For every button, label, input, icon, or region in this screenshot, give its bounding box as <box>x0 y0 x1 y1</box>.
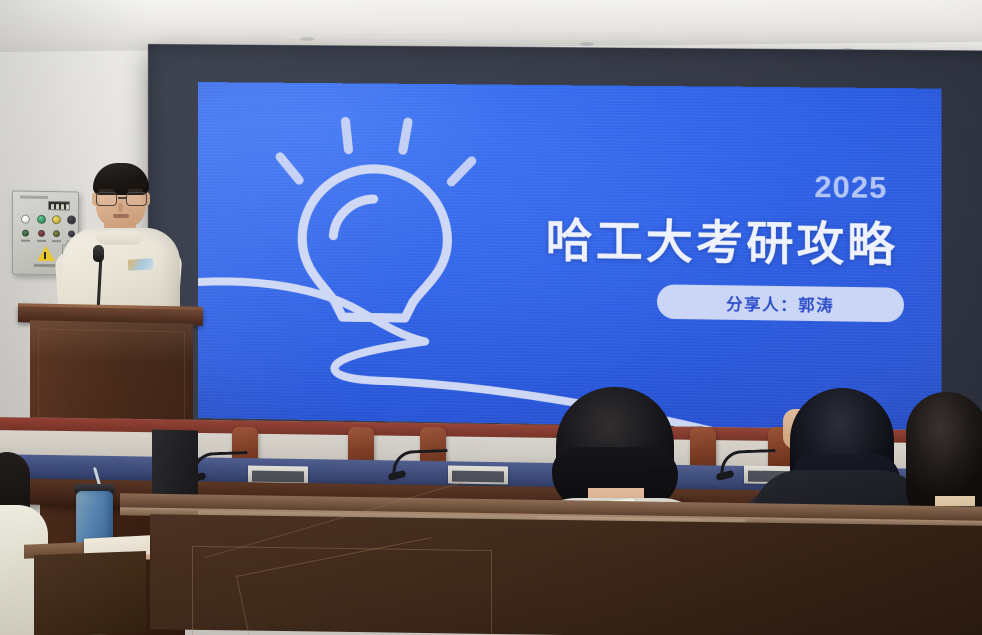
microphone-icon <box>93 245 104 262</box>
presentation-slide[interactable]: 2025 哈工大考研攻略 分享人：郭涛 <box>198 82 941 431</box>
indicator-lamp-white <box>21 215 30 224</box>
bulb-highlight-arc <box>333 199 373 237</box>
glasses-bridge <box>118 197 126 199</box>
panel-caption <box>34 264 58 267</box>
panel-label <box>20 196 48 199</box>
glasses-lens-left <box>96 192 117 206</box>
presenter-badge: 分享人：郭涛 <box>657 284 904 322</box>
panel-button-2[interactable] <box>38 230 45 237</box>
indicator-lamp-green <box>37 215 46 224</box>
warning-bolt-icon <box>44 252 46 259</box>
panel-button-3[interactable] <box>53 230 60 237</box>
panel-button-label <box>52 240 61 242</box>
lecture-hall-scene: 2025 哈工大考研攻略 分享人：郭涛 <box>0 0 982 635</box>
high-voltage-warning-icon <box>37 246 55 261</box>
presenter-badge-label: 分享人：郭涛 <box>726 290 834 316</box>
indicator-lamp-yellow <box>52 215 61 224</box>
side-desk-body <box>34 551 146 635</box>
sweatshirt-logo <box>128 258 154 270</box>
indicator-lamp-off <box>67 215 76 224</box>
ceiling-fixture-icon <box>580 42 594 46</box>
panel-display <box>48 201 70 210</box>
presenter-mouth <box>113 214 129 218</box>
panel-button-label <box>37 240 46 242</box>
panel-button-1[interactable] <box>22 230 29 237</box>
desk-nameplate <box>448 466 508 485</box>
presenter-collar <box>96 231 144 245</box>
presenter-nose <box>118 203 123 212</box>
glasses-lens-right <box>126 192 147 206</box>
ceiling-fixture-icon <box>300 37 314 41</box>
slide-title: 哈工大考研攻略 <box>546 204 898 275</box>
panel-button-label <box>21 240 30 242</box>
slide-year: 2025 <box>814 171 887 206</box>
